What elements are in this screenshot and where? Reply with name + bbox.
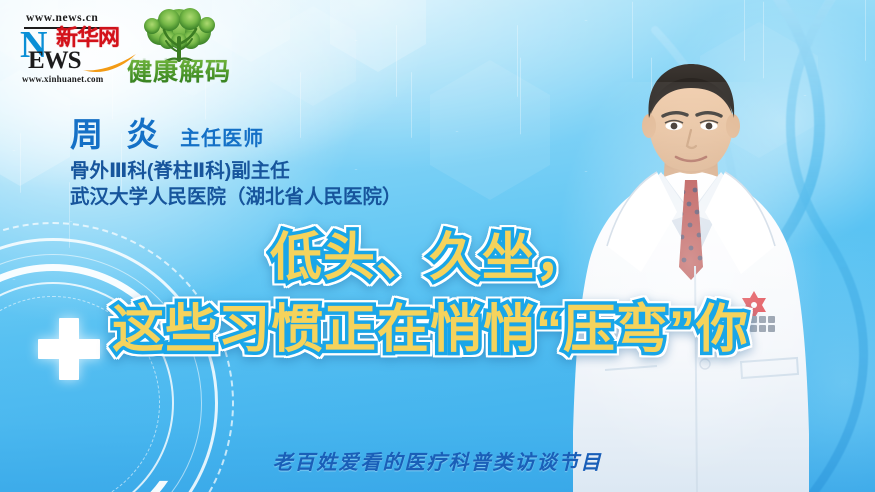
program-tagline: 老百姓爱看的医疗科普类访谈节目 [0, 446, 875, 475]
xinhua-logo[interactable]: www.news.cn N EWS 新华网 www.xinhuanet.com [14, 12, 122, 84]
xinhua-chinese-name: 新华网 [56, 26, 119, 49]
guest-hospital: 武汉大学人民医院（湖北省人民医院） [70, 186, 402, 208]
guest-name-row: 周 炎 主任医师 [70, 118, 402, 151]
medical-cross-icon [38, 318, 100, 380]
portrait-glow [555, 82, 825, 482]
health-program-logo[interactable]: 健康解码 [118, 8, 240, 90]
main-title-line-1: 低头、久坐， [270, 232, 588, 284]
main-title-line-2: 这些习惯正在悄悄“压弯”你 [112, 304, 749, 356]
health-logo-text: 健康解码 [118, 60, 240, 85]
xinhua-url-bottom: www.xinhuanet.com [22, 74, 103, 84]
guest-department: 骨外Ⅲ科(脊柱Ⅱ科)副主任 [70, 160, 402, 182]
guest-rank: 主任医师 [180, 129, 264, 151]
guest-name: 周 炎 [70, 118, 166, 151]
program-title-card: www.news.cn N EWS 新华网 www.xinhuanet.com [0, 0, 875, 492]
xinhua-letters-ews: EWS [28, 48, 81, 73]
xinhua-url-top: www.news.cn [26, 12, 98, 24]
doctor-portrait [545, 62, 835, 492]
guest-info-block: 周 炎 主任医师 骨外Ⅲ科(脊柱Ⅱ科)副主任 武汉大学人民医院（湖北省人民医院） [70, 118, 402, 209]
